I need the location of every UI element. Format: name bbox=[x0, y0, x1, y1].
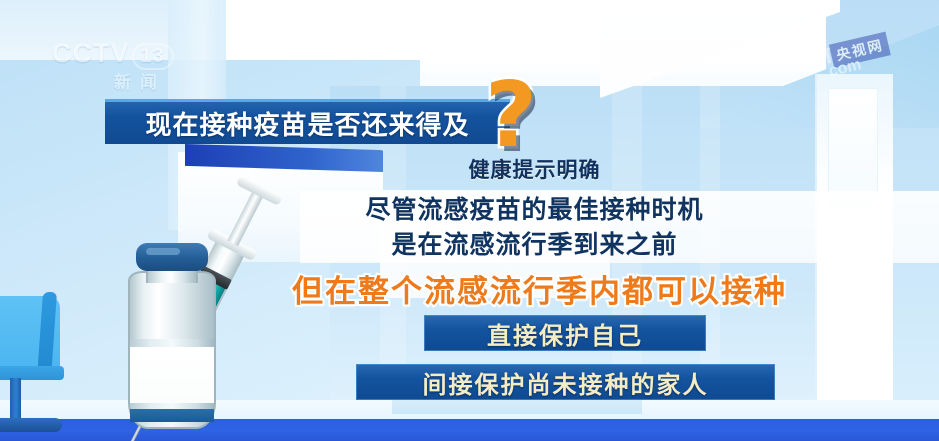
vial-label bbox=[130, 347, 214, 403]
door-glass bbox=[828, 88, 878, 208]
body-text-block: 尽管流感疫苗的最佳接种时机 是在流感流行季到来之前 bbox=[0, 193, 939, 263]
banner-indirect-text: 间接保护尚未接种的家人 bbox=[423, 365, 709, 400]
vial-bottom-band bbox=[130, 409, 214, 422]
broadcast-screen: CCTV13 新闻 CCTV 央视网 com 现在接种疫苗是否还来得及 ? 健康… bbox=[0, 0, 939, 441]
body-line-1: 尽管流感疫苗的最佳接种时机 bbox=[130, 193, 939, 228]
banner-indirect-protection: 间接保护尚未接种的家人 bbox=[356, 364, 775, 400]
subtitle-text: 健康提示明确 bbox=[469, 159, 601, 182]
cctv-channel-number: 13 bbox=[132, 43, 174, 70]
subtitle-row: 健康提示明确 bbox=[0, 154, 939, 184]
cctv-channel-logo: CCTV13 新闻 bbox=[52, 38, 202, 94]
headline-text: 现在接种疫苗是否还来得及 bbox=[145, 105, 469, 142]
shelf-panel bbox=[392, 398, 642, 414]
cctv-logo-text: CCTV bbox=[52, 38, 130, 68]
chair-base bbox=[0, 418, 62, 432]
cctv-logo-subtitle: 新闻 bbox=[52, 68, 202, 93]
emphasis-text: 但在整个流感流行季内都可以接种 bbox=[292, 266, 787, 311]
headline-banner: 现在接种疫苗是否还来得及 bbox=[105, 102, 510, 144]
cctv-logo-wordmark: CCTV13 bbox=[52, 38, 202, 70]
body-line-2: 是在流感流行季到来之前 bbox=[130, 228, 939, 263]
chair-stem bbox=[10, 378, 21, 422]
emphasis-row: 但在整个流感流行季内都可以接种 bbox=[0, 266, 939, 311]
question-mark-icon: ? bbox=[472, 74, 550, 158]
banner-direct-text: 直接保护自己 bbox=[487, 316, 643, 351]
banner-direct-protection: 直接保护自己 bbox=[424, 315, 706, 351]
